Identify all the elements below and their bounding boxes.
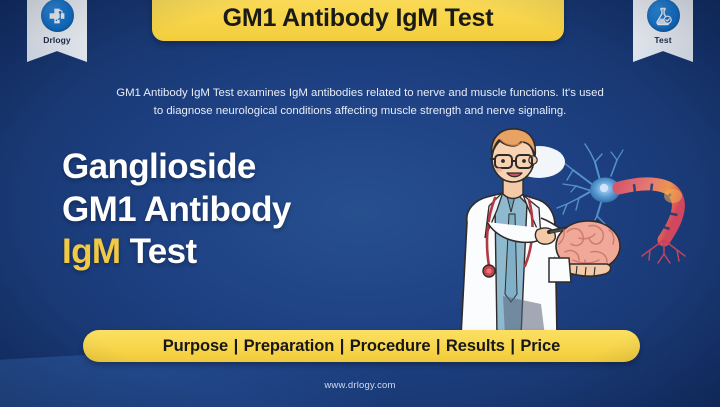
topic-results[interactable]: Results bbox=[446, 337, 505, 355]
headline-rest: Test bbox=[120, 232, 196, 271]
footer-url[interactable]: www.drlogy.com bbox=[0, 380, 720, 391]
headline-block: Ganglioside GM1 Antibody IgM Test bbox=[62, 146, 462, 274]
topic-separator: | bbox=[509, 337, 516, 355]
topic-preparation[interactable]: Preparation bbox=[244, 337, 335, 355]
topic-separator: | bbox=[233, 337, 240, 355]
description-line-1: GM1 Antibody IgM Test examines IgM antib… bbox=[50, 84, 670, 102]
topic-price[interactable]: Price bbox=[520, 337, 560, 355]
title-banner: GM1 Antibody IgM Test bbox=[152, 0, 564, 41]
topics-pill[interactable]: Purpose | Preparation | Procedure | Resu… bbox=[83, 330, 640, 362]
topic-procedure[interactable]: Procedure bbox=[350, 337, 431, 355]
topic-purpose[interactable]: Purpose bbox=[163, 337, 228, 355]
topics-list: Purpose | Preparation | Procedure | Resu… bbox=[163, 337, 560, 356]
page-title: GM1 Antibody IgM Test bbox=[223, 0, 494, 33]
description-line-2: to diagnose neurological conditions affe… bbox=[50, 102, 670, 120]
brand-badge-drlogy[interactable]: Drlogy bbox=[27, 0, 87, 62]
illustration-doctor-brain-neuron bbox=[445, 126, 720, 336]
lab-flask-icon bbox=[647, 0, 680, 32]
headline-line-2: GM1 Antibody bbox=[62, 189, 462, 232]
test-badge[interactable]: Test bbox=[633, 0, 693, 62]
topic-separator: | bbox=[339, 337, 346, 355]
medical-cross-icon bbox=[41, 0, 74, 32]
headline-accent: IgM bbox=[62, 232, 120, 271]
test-badge-label: Test bbox=[654, 35, 671, 45]
infographic-canvas: Drlogy Test GM1 Antibody IgM Test GM1 An… bbox=[0, 0, 720, 407]
headline-line-3: IgM Test bbox=[62, 231, 462, 274]
headline-line-1: Ganglioside bbox=[62, 146, 462, 189]
description-text: GM1 Antibody IgM Test examines IgM antib… bbox=[50, 84, 670, 121]
brand-badge-label: Drlogy bbox=[43, 35, 71, 45]
topic-separator: | bbox=[435, 337, 442, 355]
